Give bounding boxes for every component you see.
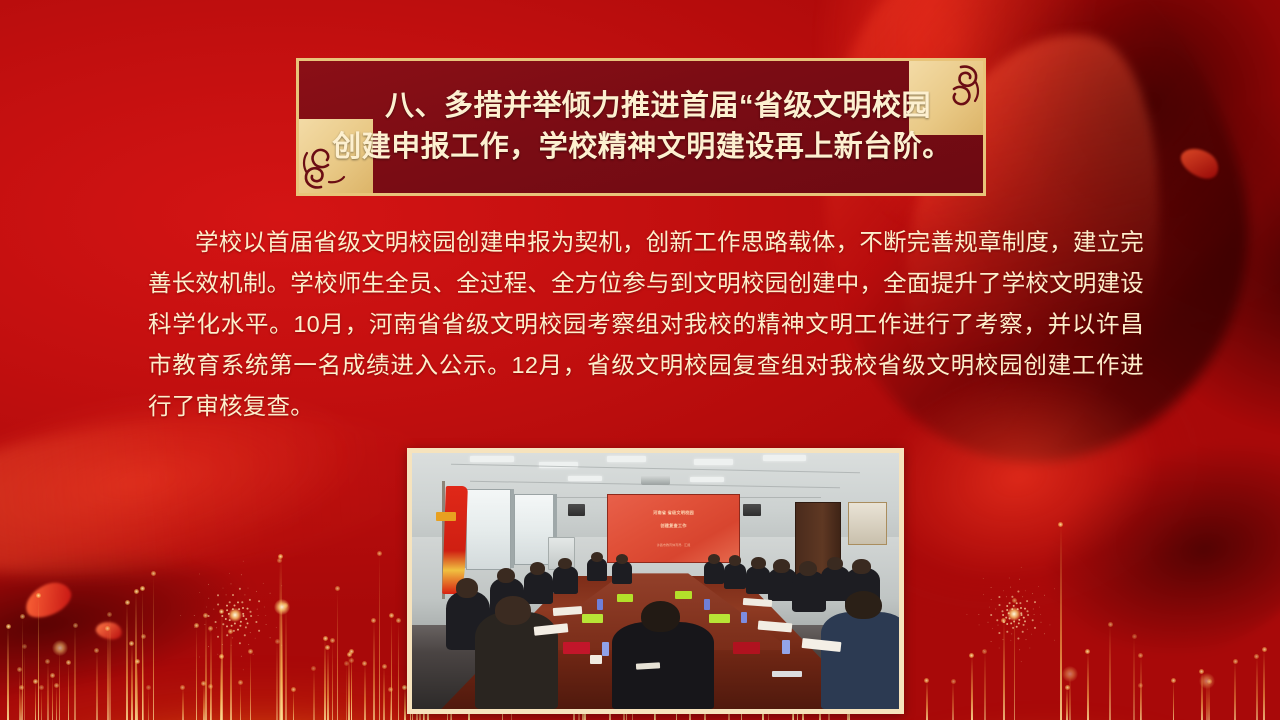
firework-burst-particle (983, 594, 984, 595)
attendee (553, 566, 577, 594)
firework-burst-particle (213, 609, 214, 610)
firework-burst-particle (232, 608, 234, 610)
firework-burst-particle (208, 646, 209, 647)
firework-burst-particle (216, 627, 217, 628)
firework-burst-particle (999, 604, 1001, 606)
firework-burst-particle (1010, 587, 1011, 588)
firework-burst-particle (983, 578, 984, 579)
firework-burst-particle (258, 630, 260, 632)
firework-burst-particle (237, 629, 239, 631)
tissue-box (675, 591, 692, 599)
firework-burst-particle (234, 605, 236, 607)
attendee-head (495, 596, 532, 624)
firework-burst-particle (208, 598, 209, 599)
attendee-head (773, 559, 790, 572)
firework-burst-particle (253, 654, 254, 655)
firework-burst-particle (244, 594, 245, 595)
firework-burst-particle (238, 608, 240, 610)
firework-burst-particle (1011, 608, 1013, 610)
firework-burst-particle (244, 634, 246, 636)
photo-window (466, 489, 512, 570)
firework-burst-particle (255, 621, 257, 623)
ceiling-light (568, 476, 602, 481)
attendee-foreground (612, 622, 714, 709)
ceiling-light (690, 477, 724, 482)
water-bottle (597, 599, 603, 610)
firework-burst-particle (231, 625, 233, 627)
tissue-box (709, 614, 729, 623)
firework-burst-particle (248, 644, 249, 645)
firework-burst-particle (1034, 627, 1036, 629)
firework-burst-particle (234, 623, 236, 625)
attendee-head (845, 591, 882, 619)
firework-burst-particle (249, 599, 251, 601)
firework-burst-particle (1006, 623, 1008, 625)
section-title-box: 八、多措并举倾力推进首届“省级文明校园 创建申报工作，学校精神文明建设再上新台阶… (296, 58, 986, 196)
firework-burst-particle (208, 584, 209, 585)
wall-picture (848, 502, 887, 545)
firework-burst-particle (243, 615, 245, 617)
firework-burst-particle (241, 601, 243, 603)
firework-burst-particle (1021, 567, 1022, 568)
projection-screen-subtitle: 创建复查工作 (621, 523, 726, 529)
firework-burst-particle (266, 624, 267, 625)
attendee-head (558, 558, 572, 569)
firework-burst-particle (232, 637, 233, 638)
projection-screen: 河南省 省级文明校园 创建复查工作 许昌市教育体育局 · 汇报 (607, 494, 740, 563)
firework-burst-particle (995, 609, 996, 610)
firework-burst-particle (1032, 619, 1034, 621)
firework-burst-particle (243, 561, 244, 562)
attendee-foreground (821, 612, 899, 709)
firework-burst-particle (998, 632, 1000, 634)
attendee-head (456, 578, 478, 597)
attendee-head (751, 557, 766, 569)
firework-burst-particle (1054, 588, 1055, 589)
firework-burst-particle (1025, 590, 1026, 591)
tissue-box (617, 594, 634, 602)
firework-burst-particle (217, 604, 219, 606)
window-frame (511, 489, 514, 568)
tissue-box (582, 614, 602, 623)
water-bottle (741, 612, 747, 624)
firework-burst-right (975, 575, 1053, 653)
firework-burst-particle (1006, 605, 1008, 607)
firework-burst-particle (1027, 629, 1028, 630)
firework-burst-particle (1039, 607, 1040, 608)
ceiling-light (694, 459, 733, 464)
firework-burst-particle (245, 618, 247, 620)
water-bottle (602, 642, 609, 656)
firework-burst-particle (241, 656, 242, 657)
firework-burst-particle (229, 573, 230, 574)
firework-burst-particle (194, 615, 195, 616)
firework-burst-particle (242, 607, 244, 609)
firework-burst-particle (1040, 614, 1041, 615)
attendee-head (530, 562, 546, 575)
firework-burst-particle (217, 654, 218, 655)
firework-burst-particle (247, 622, 249, 624)
firework-burst-particle (221, 615, 223, 617)
desk-box (733, 642, 760, 653)
ceiling-light (763, 455, 807, 461)
firework-burst-particle (217, 636, 219, 638)
attendee-head (852, 559, 871, 573)
document-paper (636, 662, 661, 669)
smartphone (772, 671, 801, 677)
projection-screen-title: 河南省 省级文明校园 (621, 510, 726, 516)
firework-burst-particle (222, 623, 224, 625)
firework-burst-particle (199, 592, 200, 593)
firework-burst-particle (1002, 614, 1004, 616)
firework-burst-particle (1026, 600, 1028, 602)
firework-burst-particle (1009, 578, 1010, 579)
firework-burst-particle (225, 618, 227, 620)
firework-burst-particle (998, 625, 999, 626)
firework-burst-particle (258, 615, 259, 616)
firework-burst-particle (1019, 579, 1020, 580)
firework-burst-particle (228, 613, 230, 615)
firework-burst-particle (247, 608, 249, 610)
firework-burst-particle (1023, 624, 1025, 626)
firework-burst-particle (208, 615, 210, 617)
paper-cup (590, 655, 603, 664)
firework-burst-particle (1008, 612, 1010, 614)
firework-burst-particle (1003, 621, 1005, 623)
firework-burst-particle (242, 613, 244, 615)
attendee (746, 566, 770, 594)
firework-burst-particle (1020, 607, 1022, 609)
firework-burst-particle (1005, 617, 1007, 619)
firework-burst-particle (276, 627, 277, 628)
firework-burst-particle (257, 609, 258, 610)
firework-burst-particle (1041, 622, 1042, 623)
firework-burst-particle (215, 621, 217, 623)
firework-burst-particle (1021, 661, 1022, 662)
firework-burst-particle (229, 619, 231, 621)
firework-burst-particle (1027, 614, 1029, 616)
firework-burst-particle (1044, 633, 1045, 634)
firework-burst-particle (996, 619, 998, 621)
body-paragraph: 学校以首届省级文明校园创建申报为契机，创新工作思路载体，不断完善规章制度，建立完… (148, 222, 1144, 427)
firework-burst-particle (1021, 614, 1023, 616)
meeting-photo: 河南省 省级文明校园 创建复查工作 许昌市教育体育局 · 汇报 (412, 453, 899, 709)
firework-burst-particle (1017, 591, 1019, 593)
firework-burst-particle (223, 588, 224, 589)
firework-burst-particle (1024, 608, 1026, 610)
firework-burst-particle (1026, 639, 1027, 640)
firework-burst-particle (217, 594, 219, 596)
firework-burst-particle (983, 650, 984, 651)
firework-burst-particle (1018, 622, 1020, 624)
firework-burst-particle (998, 596, 1000, 598)
firework-burst-particle (1016, 602, 1018, 604)
firework-burst-particle (1017, 638, 1019, 640)
firework-burst-particle (239, 588, 241, 590)
firework-burst-particle (1009, 618, 1011, 620)
firework-burst-particle (231, 645, 232, 646)
water-bottle (704, 599, 710, 610)
firework-burst-particle (231, 583, 232, 584)
firework-burst-particle (1038, 586, 1039, 587)
firework-burst-particle (1003, 590, 1004, 591)
attendee (724, 563, 746, 589)
firework-burst-particle (1022, 631, 1024, 633)
firework-burst-particle (1017, 608, 1019, 610)
firework-burst-particle (1033, 609, 1034, 610)
firework-burst-particle (1019, 649, 1020, 650)
firework-burst-particle (239, 625, 241, 627)
attendee-head (497, 568, 516, 583)
firework-burst-particle (1011, 596, 1013, 598)
firework-burst-particle (1034, 601, 1036, 603)
firework-burst-particle (966, 614, 967, 615)
slide-canvas: 八、多措并举倾力推进首届“省级文明校园 创建申报工作，学校精神文明建设再上新台阶… (0, 0, 1280, 720)
firework-burst-particle (226, 609, 228, 611)
section-title-text: 八、多措并举倾力推进首届“省级文明校园 创建申报工作，学校精神文明建设再上新台阶… (299, 61, 983, 193)
ceiling-light (470, 456, 514, 462)
firework-burst-particle (1024, 620, 1026, 622)
firework-burst-particle (240, 621, 242, 623)
firework-burst-particle (256, 591, 257, 592)
firework-burst-particle (1019, 602, 1021, 604)
firework-burst-particle (204, 624, 205, 625)
firework-burst-particle (243, 669, 244, 670)
firework-burst-particle (978, 614, 979, 615)
firework-burst-particle (990, 614, 992, 616)
firework-burst-particle (281, 645, 282, 646)
desk-box (563, 642, 590, 653)
firework-burst-particle (991, 599, 992, 600)
firework-burst-particle (979, 624, 980, 625)
firework-burst-particle (1031, 634, 1032, 635)
firework-burst-particle (245, 626, 247, 628)
attendee-head (591, 552, 603, 562)
projection-screen-footer: 许昌市教育体育局 · 汇报 (621, 543, 726, 548)
firework-burst-particle (1020, 612, 1022, 614)
firework-burst-particle (1023, 617, 1025, 619)
firework-burst-particle (210, 631, 211, 632)
firework-burst-particle (1016, 626, 1018, 628)
firework-burst-particle (989, 607, 990, 608)
firework-burst-particle (241, 574, 242, 575)
firework-burst-particle (233, 630, 235, 632)
wall-speaker (743, 504, 761, 516)
section-title-line-2: 创建申报工作，学校精神文明建设再上新台阶。 (330, 128, 952, 167)
attendee-head (827, 557, 844, 570)
firework-burst-particle (206, 607, 207, 608)
firework-burst-particle (250, 611, 252, 613)
firework-burst-particle (222, 644, 223, 645)
firework-burst-particle (1027, 610, 1029, 612)
firework-burst-particle (199, 574, 200, 575)
firework-burst-particle (1049, 624, 1050, 625)
firework-burst-particle (992, 628, 993, 629)
firework-burst-particle (250, 615, 252, 617)
firework-burst-particle (180, 615, 181, 616)
firework-burst-particle (248, 588, 249, 589)
firework-burst-particle (991, 641, 992, 642)
section-title-line-1: 八、多措并举倾力推进首届“省级文明校园 (351, 87, 931, 126)
firework-burst-particle (250, 632, 251, 633)
firework-burst-particle (281, 585, 282, 586)
water-bottle (782, 640, 790, 654)
firework-burst-particle (1011, 633, 1012, 634)
firework-burst-particle (1044, 595, 1045, 596)
firework-burst-particle (988, 622, 989, 623)
attendee-head (641, 601, 680, 632)
firework-burst-particle (1010, 622, 1012, 624)
firework-burst-particle (1009, 602, 1011, 604)
firework-burst-particle (1032, 593, 1033, 594)
attendee-head (729, 555, 742, 566)
firework-burst-particle (1018, 619, 1020, 621)
firework-burst-particle (1029, 648, 1030, 649)
firework-burst-particle (221, 611, 223, 613)
firework-burst-particle (1006, 609, 1008, 611)
firework-burst-particle (265, 615, 266, 616)
firework-burst-particle (1002, 610, 1004, 612)
firework-burst-particle (258, 600, 260, 602)
firework-burst-particle (1034, 614, 1035, 615)
firework-burst-particle (229, 601, 231, 603)
firework-burst-particle (270, 637, 271, 638)
firework-burst-particle (226, 625, 228, 627)
firework-burst-particle (194, 627, 195, 628)
firework-burst-particle (1054, 640, 1055, 641)
firework-burst-particle (232, 594, 234, 596)
firework-burst-particle (255, 638, 256, 639)
firework-burst-particle (199, 657, 200, 658)
wall-plaque (436, 512, 455, 521)
firework-burst-particle (263, 583, 264, 584)
firework-burst-particle (1003, 639, 1004, 640)
ceiling-projector (641, 475, 670, 485)
firework-burst-particle (239, 642, 241, 644)
firework-burst-particle (226, 594, 227, 595)
firework-burst-particle (991, 587, 992, 588)
firework-burst-particle (999, 648, 1000, 649)
firework-burst-left (190, 570, 280, 660)
document-paper (553, 606, 583, 616)
firework-burst-particle (226, 605, 228, 607)
firework-burst-particle (237, 601, 239, 603)
firework-burst-particle (264, 607, 265, 608)
attendee-head (616, 554, 628, 564)
attendee (524, 571, 553, 604)
ceiling-light (607, 456, 646, 462)
firework-burst-particle (1013, 605, 1015, 607)
meeting-photo-frame: 河南省 省级文明校园 创建复查工作 许昌市教育体育局 · 汇报 (407, 448, 904, 714)
wall-speaker (568, 504, 586, 516)
firework-burst-particle (1022, 596, 1023, 597)
firework-burst-particle (1013, 621, 1015, 623)
firework-burst-particle (1006, 596, 1007, 597)
attendee-head (708, 554, 720, 564)
firework-burst-particle (270, 593, 271, 594)
firework-burst-particle (226, 634, 228, 636)
firework-burst-particle (1010, 640, 1011, 641)
firework-burst-particle (1006, 631, 1008, 633)
firework-burst-particle (1012, 627, 1014, 629)
attendee-head (799, 561, 818, 576)
